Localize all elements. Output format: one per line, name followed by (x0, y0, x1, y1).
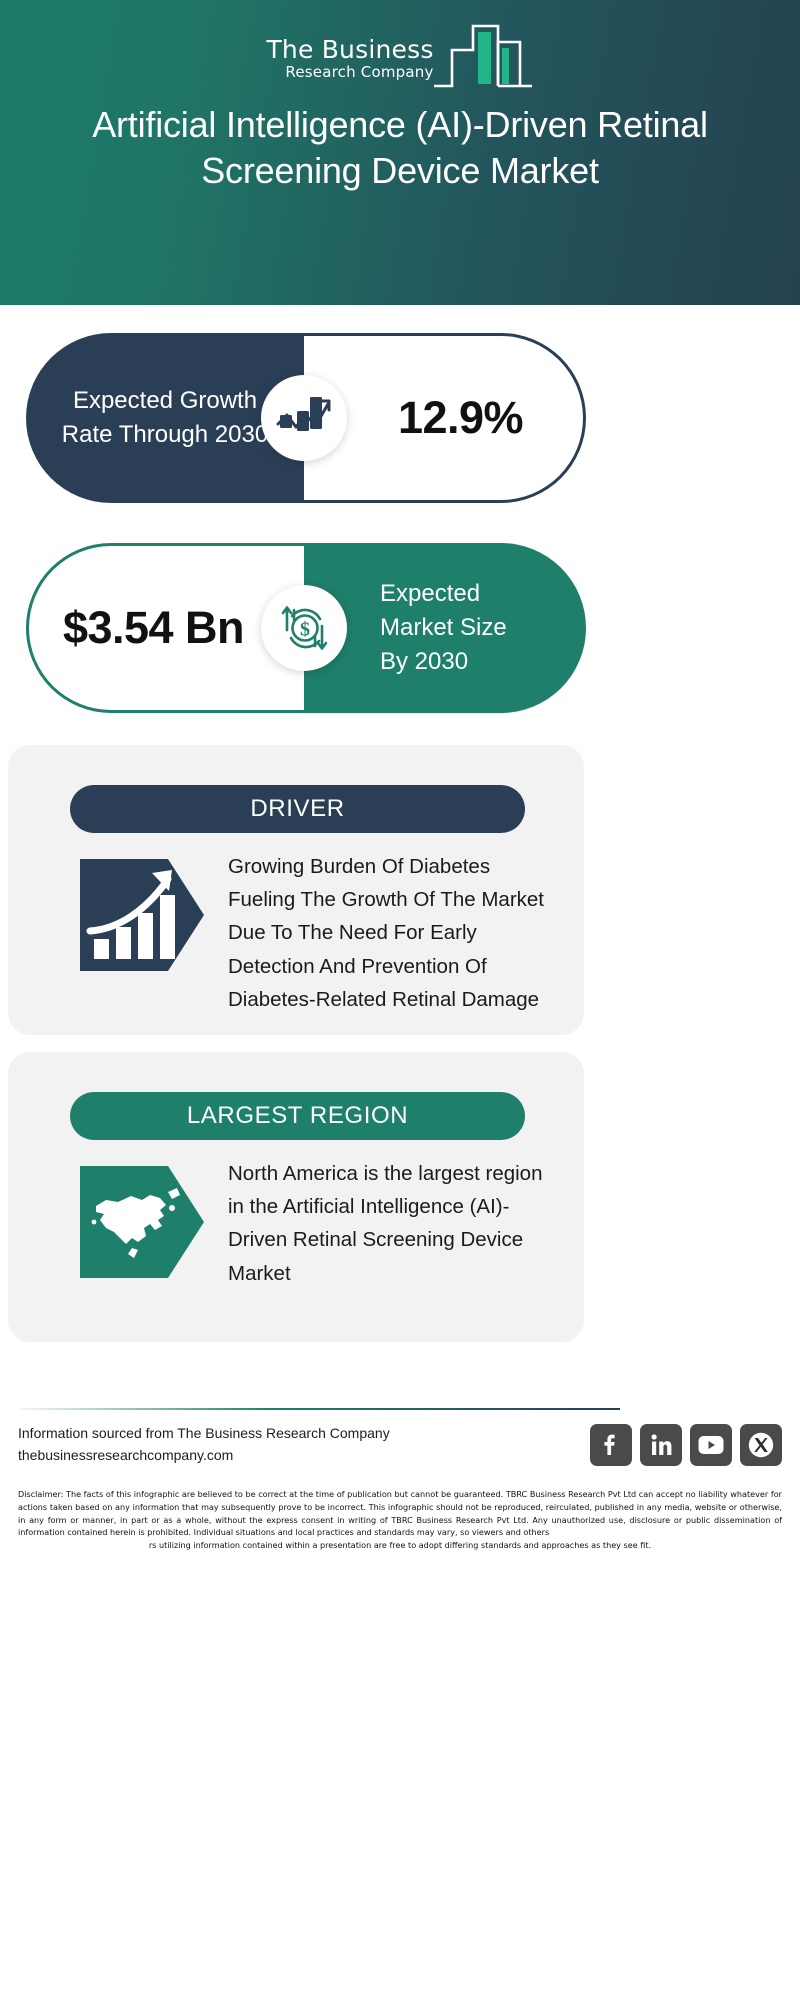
footer-disclaimer: Disclaimer: The facts of this infographi… (18, 1488, 782, 1552)
x-twitter-glyph (748, 1432, 774, 1458)
stat-card-growth-rate: Expected Growth Rate Through 2030 12.9% (26, 333, 586, 503)
growth-chart-arrow-icon (261, 375, 347, 461)
growth-chart-arrow-glyph (276, 393, 332, 443)
logo-bar-chart-icon (432, 24, 534, 88)
stat-card-growth-rate-value: 12.9% (364, 392, 523, 444)
footer-disclaimer-main: Disclaimer: The facts of this infographi… (18, 1489, 782, 1537)
youtube-icon[interactable] (690, 1424, 732, 1466)
stat-card-growth-rate-label: Expected Growth Rate Through 2030 (58, 384, 273, 452)
facebook-icon[interactable] (590, 1424, 632, 1466)
footer-source-line-1: Information sourced from The Business Re… (18, 1423, 390, 1445)
linkedin-icon[interactable] (640, 1424, 682, 1466)
north-america-map-icon (76, 1162, 208, 1282)
youtube-glyph (697, 1434, 725, 1456)
x-twitter-icon[interactable] (740, 1424, 782, 1466)
svg-text:$: $ (300, 619, 310, 641)
dollar-cycle-icon: $ (261, 585, 347, 671)
page-title: Artificial Intelligence (AI)-Driven Reti… (80, 102, 720, 194)
rising-bar-chart-arrow-glyph (76, 855, 208, 975)
logo-line-2: Research Company (266, 62, 433, 83)
logo-text-block: The Business Research Company (266, 37, 433, 88)
stat-card-market-size-label: Expected Market Size By 2030 (350, 577, 540, 679)
social-links (590, 1424, 782, 1466)
north-america-map-glyph (76, 1162, 208, 1282)
footer-source: Information sourced from The Business Re… (18, 1423, 390, 1466)
panel-largest-region: LARGEST REGION North America is the larg… (8, 1052, 584, 1342)
header-banner: The Business Research Company Artificial… (0, 0, 800, 305)
stat-card-market-size: $3.54 Bn Expected Market Size By 2030 $ (26, 543, 586, 713)
rising-bar-chart-arrow-icon (76, 855, 208, 975)
panel-largest-region-heading-pill: LARGEST REGION (70, 1092, 525, 1140)
facebook-glyph (598, 1432, 624, 1458)
panel-largest-region-body: North America is the largest region in t… (76, 1162, 548, 1290)
panel-largest-region-heading: LARGEST REGION (187, 1102, 408, 1130)
stat-card-market-size-value: $3.54 Bn (63, 601, 270, 656)
panel-largest-region-text: North America is the largest region in t… (228, 1157, 548, 1290)
footer-divider (20, 1408, 620, 1410)
panel-driver-body: Growing Burden Of Diabetes Fueling The G… (76, 855, 548, 1016)
company-logo: The Business Research Company (266, 20, 533, 88)
linkedin-glyph (648, 1432, 674, 1458)
panel-driver-text: Growing Burden Of Diabetes Fueling The G… (228, 850, 548, 1016)
panel-driver-heading-pill: DRIVER (70, 785, 525, 833)
footer-source-line-2[interactable]: thebusinessresearchcompany.com (18, 1445, 390, 1467)
panel-driver-heading: DRIVER (250, 795, 344, 823)
panel-driver: DRIVER Growing Burden Of Diabetes Fuelin… (8, 745, 584, 1035)
footer-disclaimer-last-line: rs utilizing information contained withi… (18, 1539, 782, 1552)
dollar-cycle-glyph: $ (275, 600, 333, 656)
logo-line-1: The Business (266, 37, 433, 62)
